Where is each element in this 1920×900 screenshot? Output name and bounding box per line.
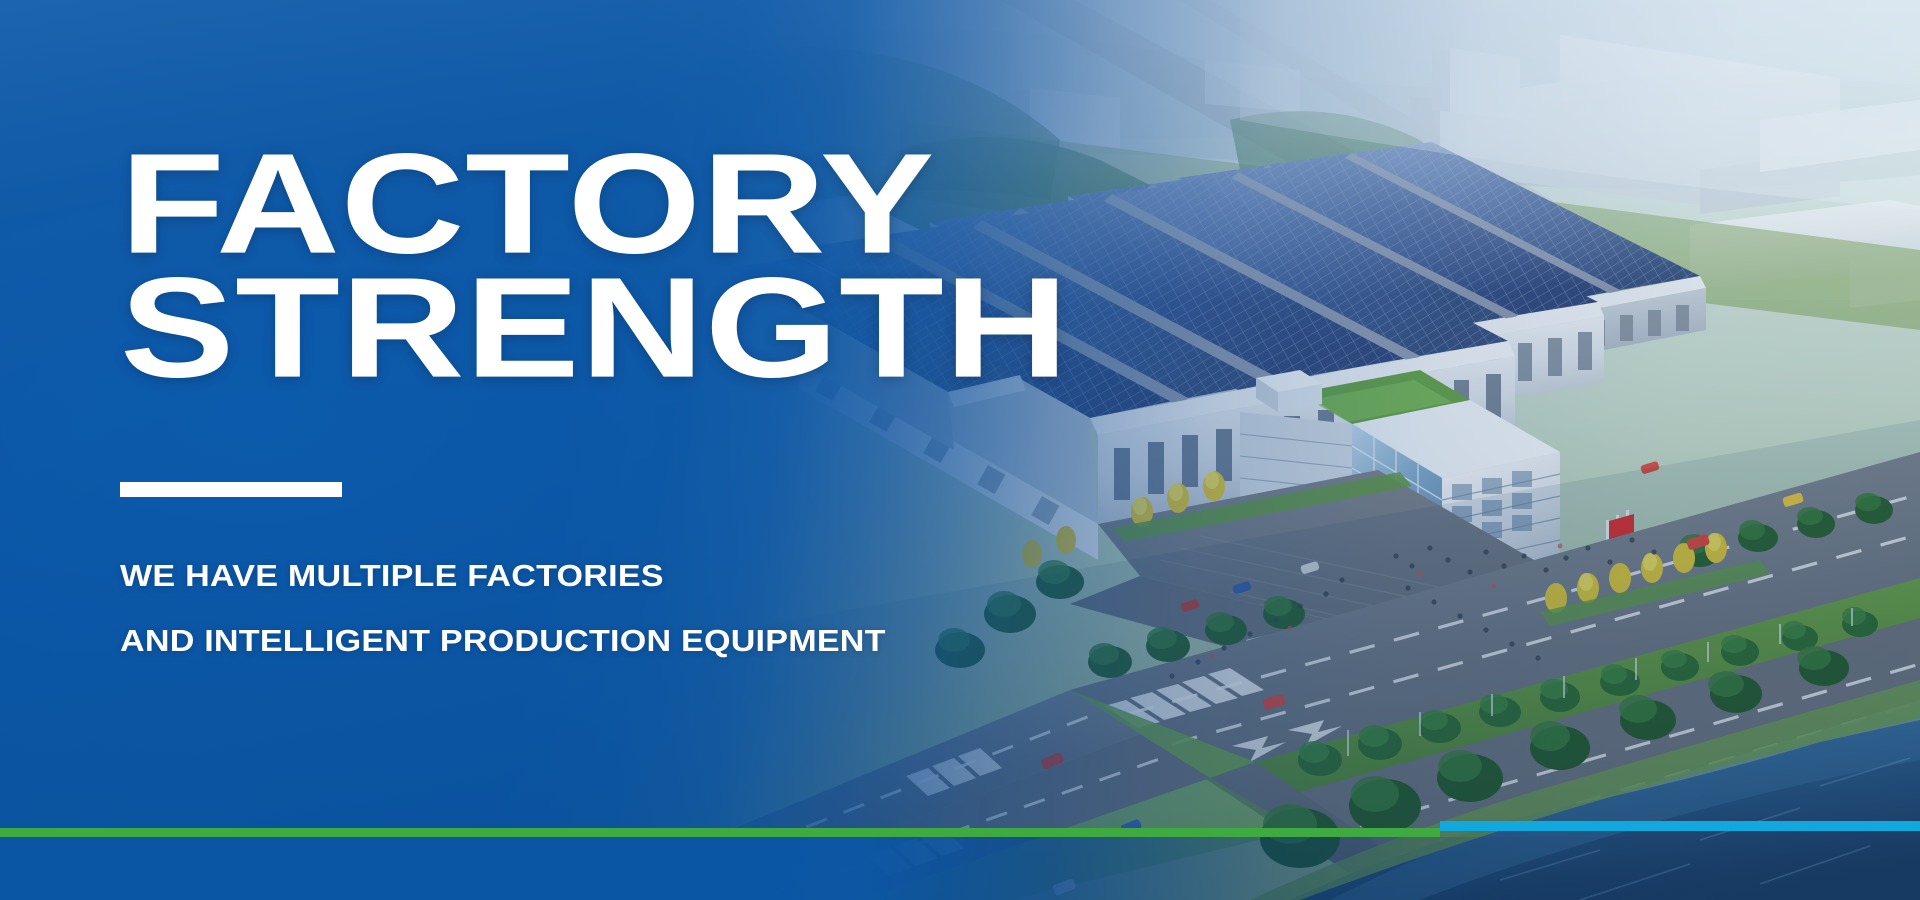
accent-bar-cyan (1440, 821, 1920, 831)
subtitle-line-1: WE HAVE MULTIPLE FACTORIES (120, 560, 664, 591)
factory-strength-banner: FACTORY STRENGTH WE HAVE MULTIPLE FACTOR… (0, 0, 1920, 900)
subtitle-line-2: AND INTELLIGENT PRODUCTION EQUIPMENT (120, 625, 886, 656)
headline-line-2: STRENGTH (120, 257, 1069, 400)
accent-bar-green (0, 828, 1440, 837)
headline-divider-rule (120, 482, 342, 497)
banner-text-block: FACTORY STRENGTH WE HAVE MULTIPLE FACTOR… (120, 0, 1020, 900)
